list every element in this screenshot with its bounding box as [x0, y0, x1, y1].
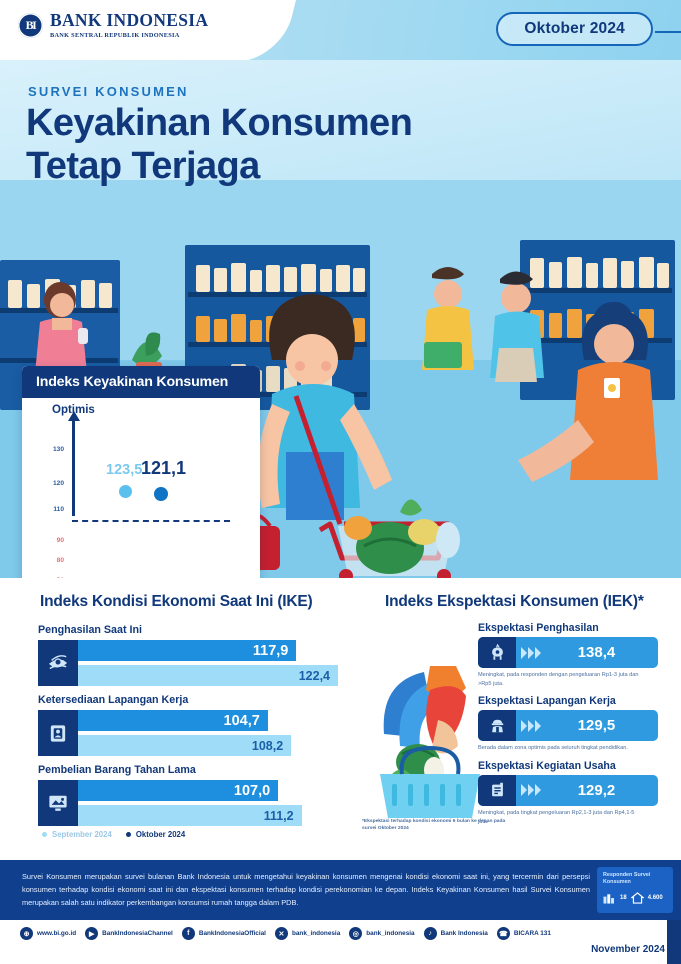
respondent-households: 4.600 [648, 895, 663, 901]
worker-icon [478, 710, 516, 741]
ike-item-penghasilan: Penghasilan Saat Ini 117,9 122,4 [38, 624, 338, 686]
money-icon [38, 640, 78, 686]
ikk-chart-card: Indeks Keyakinan Konsumen Optimis 130 12… [22, 366, 260, 578]
facebook-icon: f [182, 927, 195, 940]
iek-item-kegiatan-usaha: Ekspektasi Kegiatan Usaha [478, 760, 658, 826]
bi-seal-icon [18, 13, 43, 38]
ike-section-title: Indeks Kondisi Ekonomi Saat Ini (IKE) [40, 593, 313, 611]
hero-section: SURVEI KONSUMEN Keyakinan Konsumen Tetap… [0, 60, 681, 578]
ike-item-lapangan-kerja: Ketersediaan Lapangan Kerja 104,7 108,2 [38, 694, 338, 756]
ytick-100: 100 [22, 516, 260, 578]
ike-legend: September 2024 Oktober 2024 [42, 830, 185, 839]
legend-label-september: September 2024 [52, 830, 112, 839]
iek-label: Ekspektasi Kegiatan Usaha [478, 760, 658, 772]
ike-bar-oktober: 104,7 [78, 710, 268, 731]
tiktok-icon: ♪ [424, 927, 437, 940]
month-pill-tail [655, 31, 681, 33]
footer-date: November 2024 [591, 944, 665, 955]
iek-value: 129,2 [541, 782, 658, 799]
iek-items-list: Ekspektasi Penghasilan [478, 622, 658, 833]
logo-subtitle: BANK SENTRAL REPUBLIK INDONESIA [50, 32, 208, 39]
social-item-website[interactable]: ⊕ www.bi.go.id [20, 927, 76, 940]
youtube-icon: ▶ [85, 927, 98, 940]
job-board-icon [38, 710, 78, 756]
social-label: Bank Indonesia [441, 930, 488, 937]
instagram-icon: ◎ [349, 927, 362, 940]
ytick-110: 110 [42, 506, 64, 513]
social-item-x[interactable]: ✕ bank_indonesia [275, 927, 340, 940]
ike-bar-september: 111,2 [78, 805, 302, 826]
datapoint-label-sept: 123,5 [106, 462, 142, 478]
iek-value-pill: 138,4 [478, 637, 658, 668]
savings-icon [478, 637, 516, 668]
social-item-youtube[interactable]: ▶ BankIndonesiaChannel [85, 927, 173, 940]
iek-value-pill: 129,5 [478, 710, 658, 741]
household-icon [631, 892, 644, 904]
ike-bar-oktober: 117,9 [78, 640, 296, 661]
city-icon [603, 892, 616, 904]
legend-label-oktober: Oktober 2024 [136, 830, 185, 839]
legend-dot-september [42, 832, 47, 837]
ytick-120: 120 [42, 480, 64, 487]
respondent-box: Responden Survei Konsumen 18 4.600 [597, 867, 673, 913]
iek-label: Ekspektasi Lapangan Kerja [478, 695, 658, 707]
ike-label: Ketersediaan Lapangan Kerja [38, 694, 338, 706]
iek-value: 138,4 [541, 644, 658, 661]
social-label: bank_indonesia [292, 930, 340, 937]
chevron-right-icon [521, 720, 541, 732]
description-band: Survei Konsumen merupakan survei bulanan… [0, 860, 681, 920]
ytick-80: 80 [42, 557, 64, 564]
datapoint-label-okt: 121,1 [141, 458, 186, 479]
iek-note: Berada dalam zona optimis pada seluruh t… [478, 744, 646, 753]
ike-bar-oktober: 107,0 [78, 780, 278, 801]
ike-bar-september: 108,2 [78, 735, 291, 756]
chart-title: Indeks Keyakinan Konsumen [36, 374, 228, 390]
ike-label: Penghasilan Saat Ini [38, 624, 338, 636]
page-title: Keyakinan Konsumen Tetap Terjaga [26, 102, 466, 187]
bicara-icon: ☎ [497, 927, 510, 940]
threshold-line-100 [72, 520, 230, 522]
legend-item-oktober: Oktober 2024 [126, 830, 185, 839]
datapoint-dot-okt [154, 487, 168, 501]
ike-label: Pembelian Barang Tahan Lama [38, 764, 338, 776]
datapoint-dot-sept [119, 485, 132, 498]
shopping-basket-illustration [378, 650, 483, 830]
iek-note: Meningkat, pada responden dengan pengelu… [478, 671, 646, 688]
page-header: BANK INDONESIA BANK SENTRAL REPUBLIK IND… [0, 0, 681, 60]
legend-dot-oktober [126, 832, 131, 837]
axis-arrow-up [72, 420, 75, 521]
iek-value: 129,5 [541, 717, 658, 734]
iek-item-penghasilan: Ekspektasi Penghasilan [478, 622, 658, 688]
social-label: BankIndonesiaChannel [102, 930, 173, 937]
chart-title-bar: Indeks Keyakinan Konsumen [22, 366, 260, 398]
social-item-tiktok[interactable]: ♪ Bank Indonesia [424, 927, 488, 940]
ike-bar-september: 122,4 [78, 665, 338, 686]
x-twitter-icon: ✕ [275, 927, 288, 940]
chevron-right-icon [521, 647, 541, 659]
social-item-facebook[interactable]: f BankIndonesiaOfficial [182, 927, 266, 940]
business-icon [478, 775, 516, 806]
respondent-cities: 18 [620, 895, 627, 901]
social-item-instagram[interactable]: ◎ bank_indonesia [349, 927, 414, 940]
chart-plot-area: Optimis 130 120 110 100 90 80 70 123,5 1… [22, 398, 260, 578]
globe-icon: ⊕ [20, 927, 33, 940]
iek-section-title: Indeks Ekspektasi Konsumen (IEK)* [385, 593, 644, 611]
kicker-text: SURVEI KONSUMEN [28, 84, 189, 99]
month-badge: Oktober 2024 [496, 12, 653, 46]
social-item-bicara[interactable]: ☎ BICARA 131 [497, 927, 551, 940]
chevron-right-icon [521, 784, 541, 796]
social-footer: ⊕ www.bi.go.id ▶ BankIndonesiaChannel f … [0, 920, 681, 964]
iek-value-pill: 129,2 [478, 775, 658, 806]
social-label: bank_indonesia [366, 930, 414, 937]
appliance-icon [38, 780, 78, 826]
iek-item-lapangan-kerja: Ekspektasi Lapangan Kerja 129,5 [478, 695, 658, 753]
logo-title: BANK INDONESIA [50, 12, 208, 30]
legend-item-september: September 2024 [42, 830, 112, 839]
social-links-row: ⊕ www.bi.go.id ▶ BankIndonesiaChannel f … [20, 927, 671, 940]
bank-indonesia-logo: BANK INDONESIA BANK SENTRAL REPUBLIK IND… [18, 12, 208, 39]
infographic-page: BANK INDONESIA BANK SENTRAL REPUBLIK IND… [0, 0, 681, 964]
footer-side-strip [667, 920, 681, 964]
description-paragraph: Survei Konsumen merupakan survei bulanan… [22, 871, 590, 910]
ytick-130: 130 [42, 446, 64, 453]
social-label: www.bi.go.id [37, 930, 76, 937]
ytick-90: 90 [42, 537, 64, 544]
ike-item-barang-tahan-lama: Pembelian Barang Tahan Lama 107,0 111,2 [38, 764, 338, 826]
respondent-title: Responden Survei Konsumen [603, 872, 667, 887]
iek-label: Ekspektasi Penghasilan [478, 622, 658, 634]
social-label: BankIndonesiaOfficial [199, 930, 266, 937]
iek-footnote: *Ekspektasi terhadap kondisi ekonomi 6 b… [362, 818, 512, 833]
indices-section: Indeks Kondisi Ekonomi Saat Ini (IKE) Pe… [0, 578, 681, 860]
social-label: BICARA 131 [514, 930, 551, 937]
